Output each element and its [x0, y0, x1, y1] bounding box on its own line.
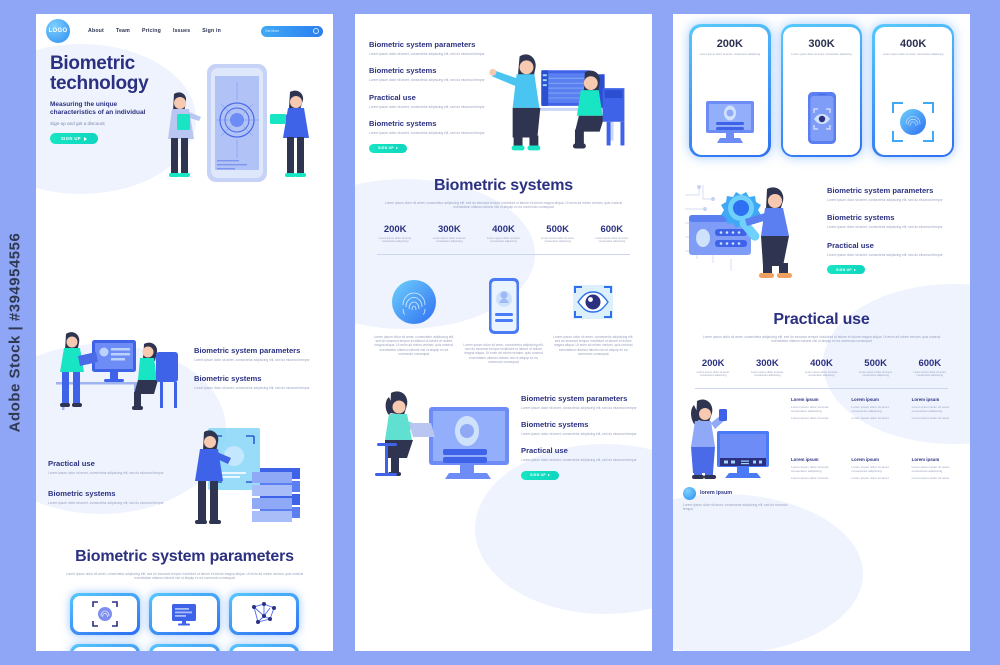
- stats-title: Practical use: [673, 311, 970, 329]
- navbar: LOGO About Team Pricing Issues Sign in G…: [36, 14, 333, 48]
- feature-column: Lorem ipsum dolor sit amet, consectetur …: [552, 277, 634, 365]
- card-caption: Lorem ipsum dolor sit amet, consectetur …: [883, 53, 944, 56]
- arrow-right-icon: [84, 137, 87, 141]
- footer-link[interactable]: Lorem ipsum dolor sit amet: [851, 416, 899, 420]
- office-illustration: [48, 322, 188, 414]
- hero-note: Sign-up and get a discount: [50, 121, 333, 126]
- stat-item: 200K Lorem ipsum dolor sit amet, consect…: [373, 224, 417, 244]
- footer-column: Lorem ipsum Lorem ipsum dolor sit amet, …: [912, 397, 960, 451]
- fingerprint-scan-icon: [90, 599, 120, 629]
- monitor-icon: [169, 599, 199, 629]
- section-heading: Practical use: [369, 93, 486, 102]
- feature-body: Lorem ipsum dolor sit amet, consectetur …: [552, 335, 634, 357]
- card-value: 200K: [717, 38, 743, 50]
- feature-card[interactable]: [229, 644, 299, 651]
- feature-body: Lorem ipsum dolor sit amet, consectetur …: [463, 343, 545, 365]
- feature-columns: Lorem ipsum dolor sit amet, consectetur …: [355, 255, 652, 365]
- logo-icon[interactable]: LOGO: [46, 19, 70, 43]
- phone-fingerprint-icon: [90, 650, 120, 651]
- stats-body: Lorem ipsum dolor sit amet, consectetur …: [699, 335, 944, 344]
- footer-link[interactable]: Lorem ipsum dolor sit amet: [851, 476, 899, 480]
- section-heading: Biometric systems: [194, 374, 321, 383]
- section-body: Lorem ipsum dolor sit amet, consectetur …: [369, 105, 486, 109]
- gear-security-illustration: [683, 175, 823, 285]
- landing-page-panel-3: 200K Lorem ipsum dolor sit amet, consect…: [673, 14, 970, 651]
- stat-item: 600K Lorem ipsum dolor sit amet, consect…: [590, 224, 634, 244]
- hero-title-line1: Biometric: [50, 53, 135, 74]
- stats-body: Lorem ipsum dolor sit amet, consectetur …: [381, 201, 626, 210]
- feature-body: Lorem ipsum dolor sit amet, consectetur …: [373, 335, 455, 357]
- features-body: Lorem ipsum dolor sit amet, consectetur …: [64, 572, 305, 581]
- section-heading: Biometric system parameters: [521, 394, 640, 403]
- stat-value: 600K: [590, 224, 634, 235]
- section-body: Lorem ipsum dolor sit amet, consectetur …: [521, 458, 640, 462]
- stat-value: 200K: [691, 358, 735, 369]
- stat-caption: Lorem ipsum dolor sit amet, consectetur …: [745, 371, 789, 378]
- section-body: Lorem ipsum dolor sit amet, consectetur …: [521, 432, 640, 436]
- section-heading: Biometric systems: [48, 489, 168, 498]
- section-body: Lorem ipsum dolor sit amet, consectetur …: [194, 386, 321, 390]
- stat-caption: Lorem ipsum dolor sit amet, consectetur …: [853, 371, 897, 378]
- stat-value: 500K: [535, 224, 579, 235]
- feature-icon-grid: [36, 593, 333, 651]
- stat-caption: Lorem ipsum dolor sit amet, consectetur …: [535, 237, 579, 244]
- nav-item-signin[interactable]: Sign in: [202, 28, 221, 34]
- feature-card[interactable]: [70, 593, 140, 635]
- arrow-right-icon: [854, 269, 856, 271]
- section-heading: Practical use: [827, 241, 960, 250]
- stat-caption: Lorem ipsum dolor sit amet, consectetur …: [427, 237, 471, 244]
- section-heading: Biometric system parameters: [827, 186, 960, 195]
- feature-card[interactable]: [149, 644, 219, 651]
- hero-section: Biometric technology Measuring the uniqu…: [36, 48, 333, 144]
- landing-page-panel-2: Biometric system parameters Lorem ipsum …: [355, 14, 652, 651]
- fingerprint-scan-icon: [889, 99, 937, 145]
- signup-button[interactable]: SIGN UP: [50, 133, 98, 144]
- watermark-text: Adobe Stock | #394954556: [7, 233, 24, 433]
- stat-item: 600K Lorem ipsum dolor sit amet, consect…: [908, 358, 952, 378]
- stats-title: Biometric systems: [355, 177, 652, 195]
- footer-link[interactable]: Lorem ipsum dolor sit amet, consectetur …: [851, 405, 899, 413]
- stat-caption: Lorem ipsum dolor sit amet, consectetur …: [908, 371, 952, 378]
- footer-brand[interactable]: lorem ipsum: [683, 487, 791, 500]
- feature-column: Lorem ipsum dolor sit amet, consectetur …: [373, 277, 455, 365]
- section-body: Lorem ipsum dolor sit amet, consectetur …: [369, 52, 486, 56]
- nav-links: About Team Pricing Issues Sign in: [88, 28, 221, 34]
- arrow-right-icon: [548, 474, 550, 476]
- footer-column: Lorem ipsum Lorem ipsum dolor sit amet, …: [791, 397, 839, 451]
- card-caption: Lorem ipsum dolor sit amet, consectetur …: [700, 53, 761, 56]
- eye-scan-icon: [568, 277, 618, 327]
- stat-value: 200K: [373, 224, 417, 235]
- footer-column-heading: Lorem ipsum: [791, 397, 839, 402]
- search-icon[interactable]: [313, 28, 319, 34]
- phone-eye-scan-icon: [805, 91, 839, 145]
- footer-link[interactable]: Lorem ipsum dolor sit amet: [791, 476, 839, 480]
- hero-subtitle: Measuring the unique characteristics of …: [50, 101, 160, 117]
- phone-faceid-icon: [486, 277, 522, 335]
- nav-item-team[interactable]: Team: [116, 28, 130, 34]
- footer-column: Lorem ipsum Lorem ipsum dolor sit amet, …: [791, 457, 839, 511]
- footer-link[interactable]: Lorem ipsum dolor sit amet: [912, 476, 960, 480]
- footer-columns: Lorem ipsum Lorem ipsum dolor sit amet, …: [791, 397, 960, 512]
- arrow-right-icon: [396, 147, 398, 149]
- signup-label: SIGN UP: [836, 268, 852, 272]
- nav-item-pricing[interactable]: Pricing: [142, 28, 161, 34]
- section-body: Lorem ipsum dolor sit amet, consectetur …: [521, 406, 640, 410]
- section-heading: Biometric system parameters: [369, 40, 486, 49]
- stats-row: 200K Lorem ipsum dolor sit amet, consect…: [355, 224, 652, 244]
- features-title: Biometric system parameters: [36, 548, 333, 566]
- section-heading: Practical use: [521, 446, 640, 455]
- network-nodes-icon: [249, 599, 279, 629]
- stat-caption: Lorem ipsum dolor sit amet, consectetur …: [691, 371, 735, 378]
- stat-item: 300K Lorem ipsum dolor sit amet, consect…: [427, 224, 471, 244]
- card-value: 400K: [900, 38, 926, 50]
- stat-caption: Lorem ipsum dolor sit amet, consectetur …: [373, 237, 417, 244]
- search-input[interactable]: Get More: [261, 26, 323, 37]
- feature-card[interactable]: [229, 593, 299, 635]
- stat-caption: Lorem ipsum dolor sit amet, consectetur …: [799, 371, 843, 378]
- pricing-card[interactable]: 300K Lorem ipsum dolor sit amet, consect…: [781, 24, 863, 157]
- section-heading: Biometric systems: [369, 66, 486, 75]
- eye-scan-icon: [249, 650, 279, 651]
- section-heading: Biometric system parameters: [194, 346, 321, 355]
- feature-column: Lorem ipsum dolor sit amet, consectetur …: [463, 277, 545, 365]
- section-heading: Practical use: [48, 459, 168, 468]
- footer-column-heading: Lorem ipsum: [912, 397, 960, 402]
- poster-stage: LOGO About Team Pricing Issues Sign in G…: [30, 0, 1000, 665]
- section-body: Lorem ipsum dolor sit amet, consectetur …: [194, 358, 321, 362]
- stat-item: 500K Lorem ipsum dolor sit amet, consect…: [853, 358, 897, 378]
- team-illustration: [480, 40, 638, 155]
- nav-item-about[interactable]: About: [88, 28, 104, 34]
- section-body: Lorem ipsum dolor sit amet, consectetur …: [369, 78, 486, 82]
- section-body: Lorem ipsum dolor sit amet, consectetur …: [827, 225, 960, 229]
- hero-title-line2: technology: [50, 73, 148, 94]
- footer-column: Lorem ipsum Lorem ipsum dolor sit amet, …: [851, 457, 899, 511]
- footer-column-heading: Lorem ipsum: [912, 457, 960, 462]
- landing-page-panel-1: LOGO About Team Pricing Issues Sign in G…: [36, 14, 333, 651]
- stat-value: 500K: [853, 358, 897, 369]
- footer-brand-body: Lorem ipsum dolor sit amet, consectetur …: [683, 503, 791, 512]
- search-placeholder: Get More: [265, 29, 279, 33]
- footer-column: Lorem ipsum Lorem ipsum dolor sit amet, …: [912, 457, 960, 511]
- footer-link[interactable]: Lorem ipsum dolor sit amet, consectetur …: [851, 465, 899, 473]
- stats-row: 200K Lorem ipsum dolor sit amet, consect…: [673, 358, 970, 378]
- stat-value: 400K: [481, 224, 525, 235]
- stat-value: 300K: [427, 224, 471, 235]
- footer-brand-label: lorem ipsum: [700, 490, 732, 496]
- section-body: Lorem ipsum dolor sit amet, consectetur …: [827, 253, 960, 257]
- laptop-icon: [169, 650, 199, 651]
- footer-link[interactable]: Lorem ipsum dolor sit amet: [791, 416, 839, 420]
- section-body: Lorem ipsum dolor sit amet, consectetur …: [48, 501, 168, 505]
- stat-value: 400K: [799, 358, 843, 369]
- monitor-face-icon: [704, 99, 756, 145]
- footer-column-heading: Lorem ipsum: [791, 457, 839, 462]
- section-body: Lorem ipsum dolor sit amet, consectetur …: [48, 471, 168, 475]
- card-caption: Lorem ipsum dolor sit amet, consectetur …: [791, 53, 852, 56]
- watermark-bar: Adobe Stock | #394954556: [0, 0, 30, 665]
- workstation-illustration: [367, 387, 517, 487]
- footer-link[interactable]: Lorem ipsum dolor sit amet, consectetur …: [791, 465, 839, 473]
- pricing-cards: 200K Lorem ipsum dolor sit amet, consect…: [673, 14, 970, 157]
- pricing-card[interactable]: 200K Lorem ipsum dolor sit amet, consect…: [689, 24, 771, 157]
- stat-item: 400K Lorem ipsum dolor sit amet, consect…: [799, 358, 843, 378]
- section-body: Lorem ipsum dolor sit amet, consectetur …: [369, 131, 486, 135]
- section-heading: Biometric systems: [521, 420, 640, 429]
- feature-card[interactable]: [70, 644, 140, 651]
- page-title: Biometric technology: [50, 54, 333, 94]
- footer-column: Lorem ipsum Lorem ipsum dolor sit amet, …: [851, 397, 899, 451]
- footer-link[interactable]: Lorem ipsum dolor sit amet, consectetur …: [791, 405, 839, 413]
- section-heading: Biometric systems: [827, 213, 960, 222]
- footer-link[interactable]: Lorem ipsum dolor sit amet, consectetur …: [912, 405, 960, 413]
- card-value: 300K: [808, 38, 834, 50]
- stat-item: 200K Lorem ipsum dolor sit amet, consect…: [691, 358, 735, 378]
- footer-link[interactable]: Lorem ipsum dolor sit amet, consectetur …: [912, 465, 960, 473]
- section-body: Lorem ipsum dolor sit amet, consectetur …: [827, 198, 960, 202]
- signup-button[interactable]: SIGN UP: [521, 471, 559, 480]
- stat-value: 300K: [745, 358, 789, 369]
- signup-label: SIGN UP: [61, 136, 81, 141]
- stat-caption: Lorem ipsum dolor sit amet, consectetur …: [590, 237, 634, 244]
- signup-label: SIGN UP: [378, 146, 394, 150]
- stat-item: 300K Lorem ipsum dolor sit amet, consect…: [745, 358, 789, 378]
- logo-icon: [683, 487, 696, 500]
- footer-column-heading: Lorem ipsum: [851, 457, 899, 462]
- stat-caption: Lorem ipsum dolor sit amet, consectetur …: [481, 237, 525, 244]
- footer-column-heading: Lorem ipsum: [851, 397, 899, 402]
- pricing-card[interactable]: 400K Lorem ipsum dolor sit amet, consect…: [872, 24, 954, 157]
- fingerprint-circle-icon: [389, 277, 439, 327]
- stat-value: 600K: [908, 358, 952, 369]
- selfie-illustration: [683, 397, 775, 483]
- scanning-illustration: [164, 428, 314, 536]
- section-heading: Biometric systems: [369, 119, 486, 128]
- stat-item: 500K Lorem ipsum dolor sit amet, consect…: [535, 224, 579, 244]
- nav-item-issues[interactable]: Issues: [173, 28, 190, 34]
- footer-link[interactable]: Lorem ipsum dolor sit amet: [912, 416, 960, 420]
- feature-card[interactable]: [149, 593, 219, 635]
- stat-item: 400K Lorem ipsum dolor sit amet, consect…: [481, 224, 525, 244]
- signup-button[interactable]: SIGN UP: [827, 265, 865, 274]
- signup-button[interactable]: SIGN UP: [369, 144, 407, 153]
- signup-label: SIGN UP: [530, 473, 546, 477]
